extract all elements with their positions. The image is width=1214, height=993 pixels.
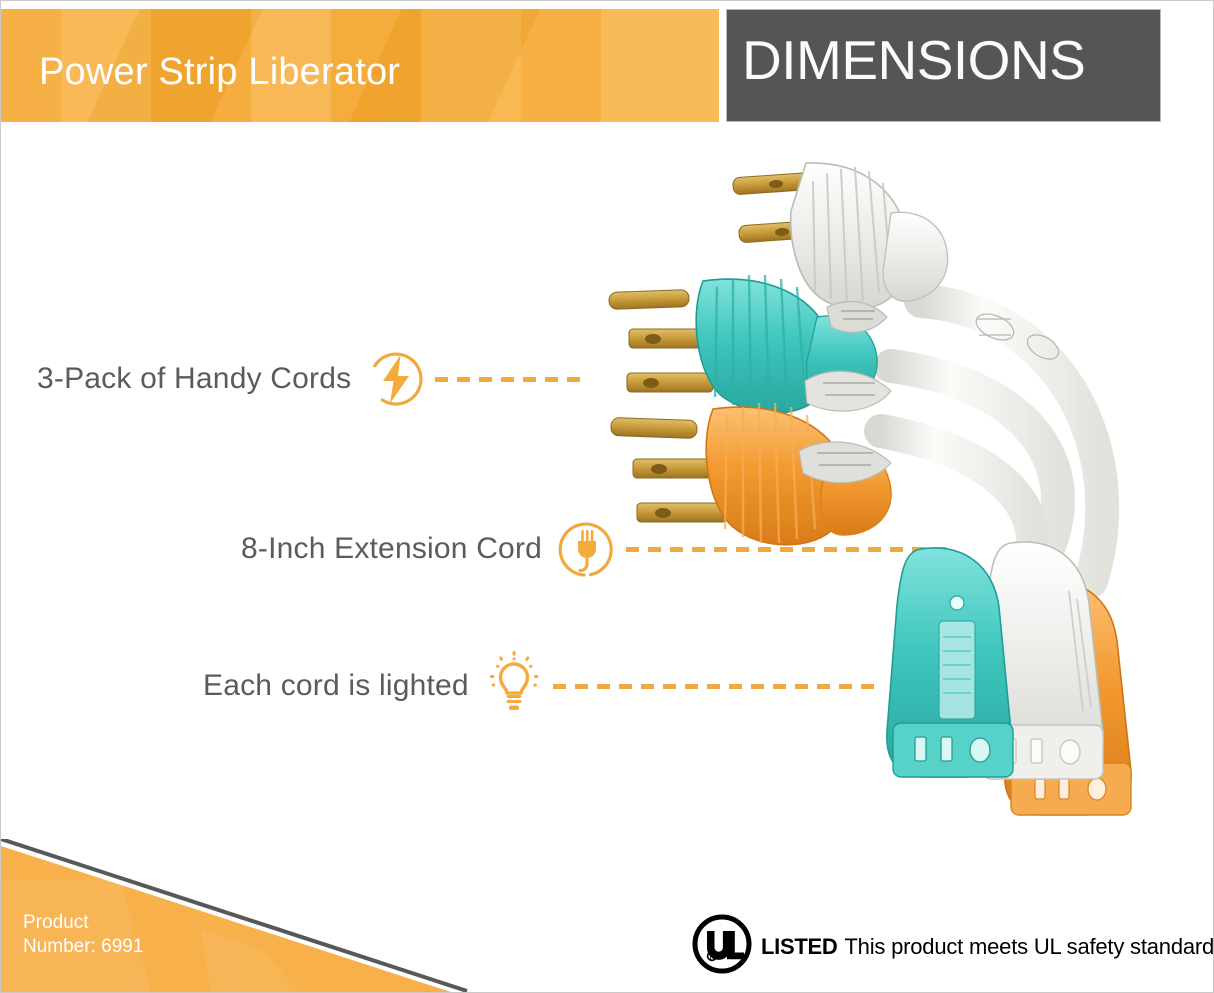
svg-text:R: R (709, 953, 715, 962)
feature-label: 3-Pack of Handy Cords (37, 362, 351, 396)
product-number-value: Number: 6991 (23, 935, 143, 959)
feature-label: 8-Inch Extension Cord (241, 532, 542, 566)
feature-label: Each cord is lighted (203, 669, 469, 703)
product-number-block: Product Number: 6991 (23, 911, 143, 959)
ul-statement: This product meets UL safety standards. (844, 934, 1214, 960)
ul-logo-icon: R (691, 913, 753, 980)
ul-certification: R LISTED This product meets UL safety st… (691, 913, 1214, 980)
ul-listed-label: LISTED (761, 934, 837, 960)
feature-callout-handy-cords: 3-Pack of Handy Cords (37, 344, 587, 414)
header-title-band: Power Strip Liberator (1, 9, 719, 122)
product-label: Product (23, 911, 143, 935)
infographic-page: Power Strip Liberator DIMENSIONS 3-Pack … (0, 0, 1214, 993)
product-photo (591, 151, 1191, 851)
leader-line-dashed (435, 377, 587, 382)
section-label: DIMENSIONS (742, 28, 1085, 92)
lightning-bolt-icon (365, 348, 427, 410)
page-title: Power Strip Liberator (39, 51, 400, 94)
light-bulb-icon (483, 650, 545, 722)
header-section-band: DIMENSIONS (726, 9, 1161, 122)
